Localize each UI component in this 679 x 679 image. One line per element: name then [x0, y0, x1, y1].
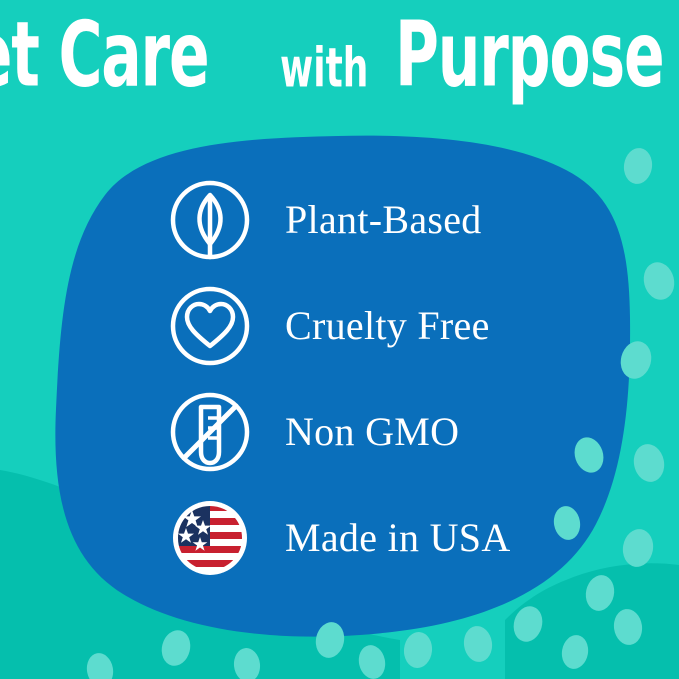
badge-label-plant-based: Plant-Based [285, 200, 482, 240]
badge-row-made-in-usa: Made in USA [168, 496, 588, 580]
badge-label-made-in-usa: Made in USA [285, 518, 511, 558]
heart-icon [168, 284, 252, 368]
leaf-icon [168, 178, 252, 262]
pet-care-with-purpose-graphic: Pet Care with Purpose ® Plant-Based [0, 0, 679, 679]
badge-row-non-gmo: Non GMO [168, 390, 588, 474]
badge-row-plant-based: Plant-Based [168, 178, 588, 262]
badge-row-cruelty-free: Cruelty Free [168, 284, 588, 368]
badge-label-cruelty-free: Cruelty Free [285, 306, 490, 346]
badge-label-non-gmo: Non GMO [285, 412, 459, 452]
no-test-tube-icon [168, 390, 252, 474]
badge-list: Plant-Based Cruelty Free [168, 178, 588, 602]
usa-flag-icon [168, 496, 252, 580]
